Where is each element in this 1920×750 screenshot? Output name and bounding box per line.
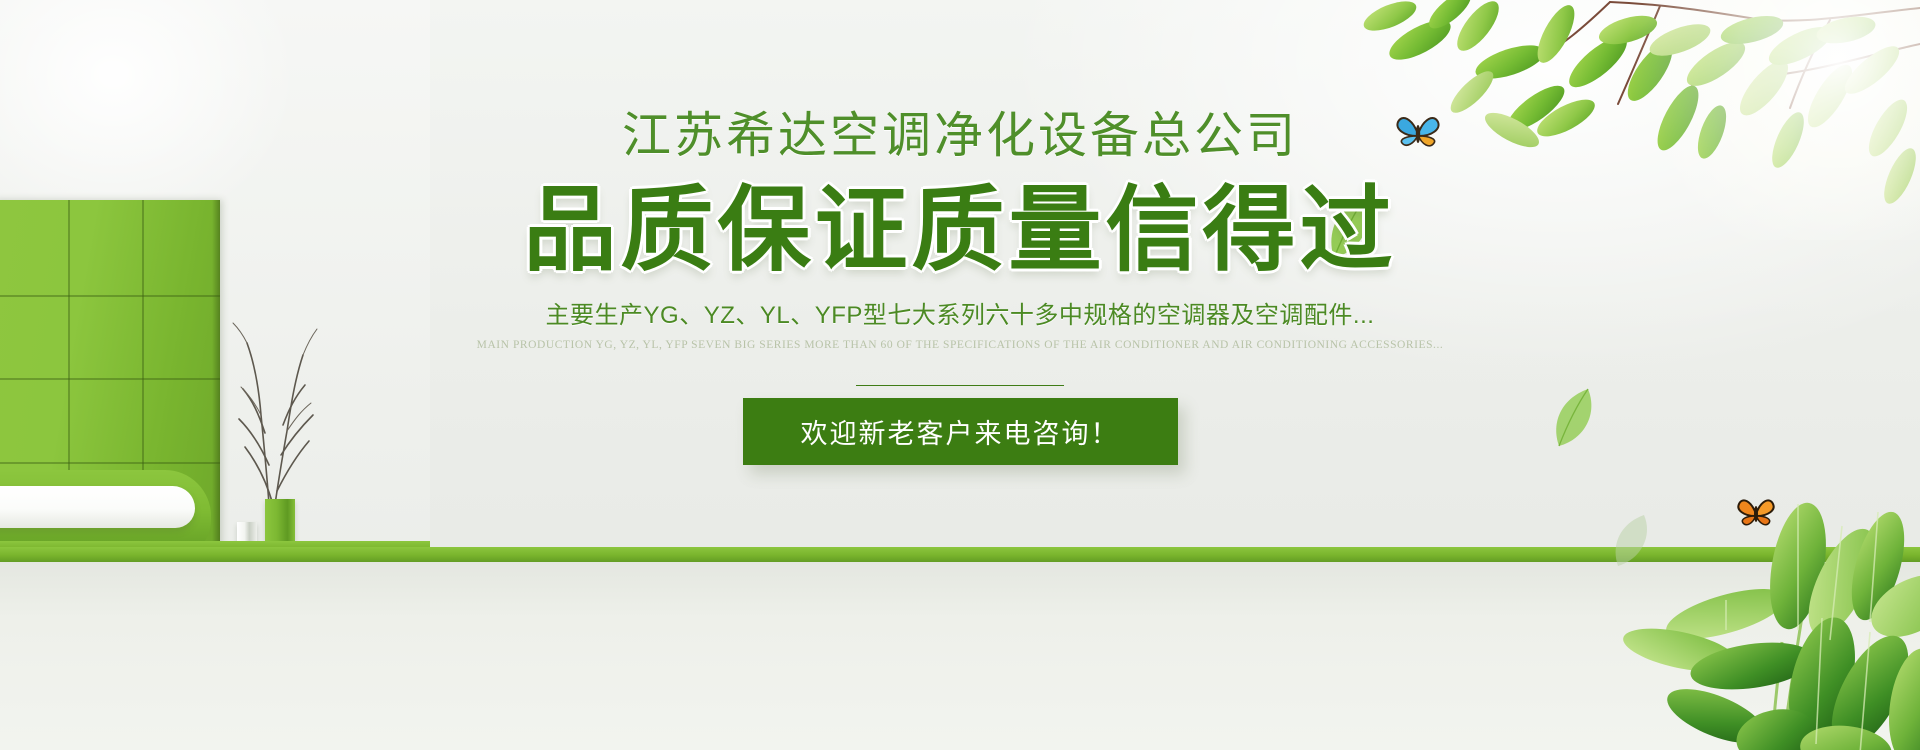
subtitle-chinese: 主要生产YG、YZ、YL、YFP型七大系列六十多中规格的空调器及空调配件...	[0, 302, 1920, 331]
headline-slogan: 品质保证质量信得过	[0, 183, 1920, 278]
sofa-cushion	[0, 486, 195, 528]
divider-wrapper	[0, 373, 1920, 375]
contact-cta-button[interactable]: 欢迎新老客户来电咨询！	[743, 398, 1178, 465]
subtitle-english: MAIN PRODUCTION YG, YZ, YL, YFP SEVEN BI…	[0, 339, 1920, 351]
banner-content: 江苏希达空调净化设备总公司 品质保证质量信得过 主要生产YG、YZ、YL、YFP…	[0, 0, 1920, 465]
company-name: 江苏希达空调净化设备总公司	[0, 112, 1920, 161]
potted-plant-icon	[1530, 454, 1920, 750]
cta-wrapper: 欢迎新老客户来电咨询！	[0, 398, 1920, 465]
section-divider	[856, 385, 1064, 386]
hero-banner: 江苏希达空调净化设备总公司 品质保证质量信得过 主要生产YG、YZ、YL、YFP…	[0, 0, 1920, 750]
